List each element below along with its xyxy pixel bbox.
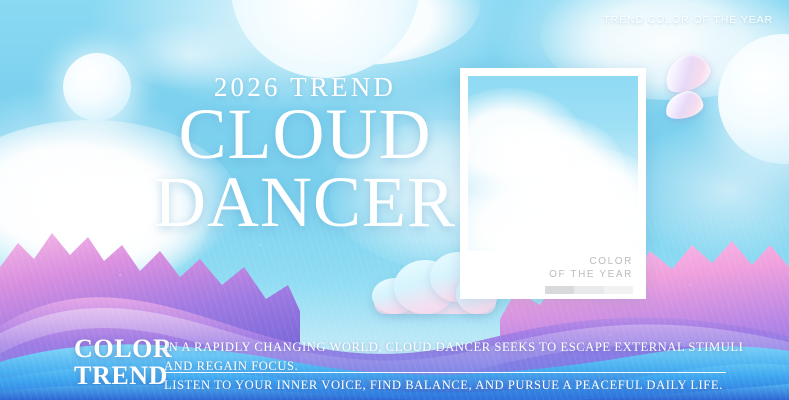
cloud-shape [240,0,480,65]
photo-frame-card: COLOR OF THE YEAR [460,68,646,299]
frame-caption: COLOR OF THE YEAR [468,251,638,299]
frame-photo [468,76,638,251]
trend-color-label: TREND COLOR OF THE YEAR [603,14,773,26]
brand-lockup: COLOR TREND [74,336,172,389]
sphere-icon [63,53,131,121]
petal-icon [663,88,706,121]
swatch-chip [545,286,574,294]
brand-line-two: TREND [74,363,172,390]
title-line-one: CLOUD [135,101,475,167]
divider-rule [164,372,726,373]
brand-line-one: COLOR [74,336,172,363]
caption-line-two: OF THE YEAR [549,269,633,282]
swatch-chip [574,286,603,294]
petal-icon [659,49,714,98]
color-swatch-bar [545,286,633,294]
poster-canvas: TREND COLOR OF THE YEAR 2026 TREND CLOUD… [0,0,789,400]
headline-block: 2026 TREND CLOUD DANCER [135,74,475,235]
body-line-two: LISTEN TO YOUR INNER VOICE, FIND BALANCE… [164,376,764,395]
body-line-one: IN A RAPIDLY CHANGING WORLD, CLOUD DANCE… [164,338,764,376]
swatch-chip [604,286,633,294]
caption-line-one: COLOR [589,256,633,269]
sphere-icon [718,34,789,164]
sphere-icon [230,0,420,78]
title-line-two: DANCER [135,169,475,235]
body-copy: IN A RAPIDLY CHANGING WORLD, CLOUD DANCE… [164,338,764,395]
